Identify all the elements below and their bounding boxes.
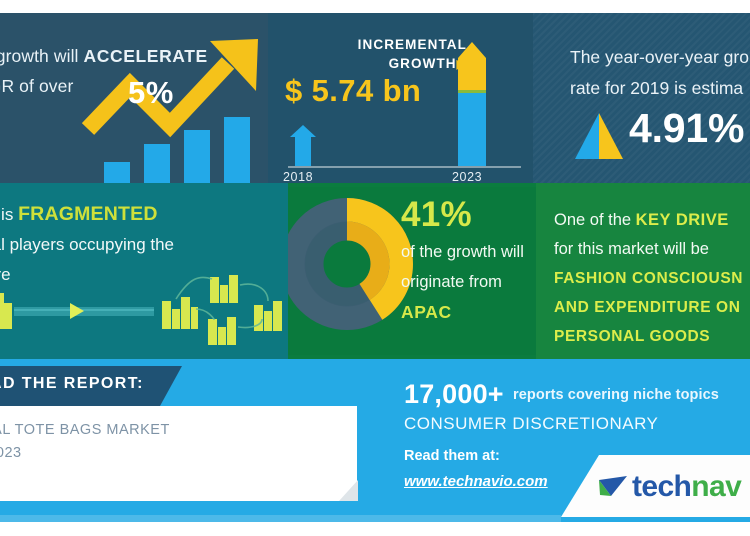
key-driver-caps-line1: FASHION CONSCIOUSN <box>554 270 743 287</box>
bar-2018 <box>290 125 316 166</box>
technavio-url-link[interactable]: www.technavio.com <box>404 473 548 490</box>
key-driver-details: FASHION CONSCIOUSN AND EXPENDITURE ON PE… <box>554 264 750 351</box>
market-fragmentation-illustration <box>0 275 288 359</box>
apac-text-line2: originate from <box>401 273 502 291</box>
apac-statement: of the growth will originate from APAC <box>401 237 536 328</box>
bar-1 <box>104 162 130 183</box>
buildings-cluster-3-icon <box>208 317 236 345</box>
buildings-cluster-1-icon <box>162 297 198 329</box>
panel-apac-share: 41% of the growth will originate from AP… <box>288 183 536 359</box>
key-driver-statement: One of the KEY DRIVE for this market wil… <box>554 206 750 264</box>
technavio-arrow-icon <box>597 474 629 500</box>
footer-white-strip <box>0 522 750 536</box>
transition-arrow-icon <box>14 303 154 319</box>
report-title-line2: -2023 <box>0 445 22 461</box>
panel-market-acceleration: et growth will ACCELERATE AGR of over 5% <box>0 13 268 183</box>
sector-label: CONSUMER DISCRETIONARY <box>404 414 658 434</box>
reports-count: 17,000+ <box>404 379 504 410</box>
yoy-value: 4.91% <box>629 105 744 152</box>
technavio-logo[interactable]: technav <box>597 469 741 505</box>
tick-label-2018: 2018 <box>283 170 313 183</box>
panel-yoy-growth: The year-over-year gro rate for 2019 is … <box>533 13 750 183</box>
acceleration-text-plain: et growth will <box>0 46 84 66</box>
buildings-cluster-2-icon <box>210 275 238 303</box>
panel-fragmented-market: rket is FRAGMENTED veral players occupyi… <box>0 183 288 359</box>
bar-2023 <box>458 42 486 166</box>
incremental-growth-label: INCREMENTAL GROWTH▶ <box>285 35 467 74</box>
logo-text-tech: tech <box>632 470 691 503</box>
technavio-wordmark: technav <box>632 470 741 504</box>
growth-arrow-icon <box>82 33 268 159</box>
infographic-canvas: et growth will ACCELERATE AGR of over 5%… <box>0 0 750 536</box>
tick-label-2023: 2023 <box>452 170 482 183</box>
incremental-label-line2: GROWTH <box>389 56 457 71</box>
fragmented-text-strong: FRAGMENTED <box>18 203 158 225</box>
triangle-up-icon <box>575 113 623 159</box>
yoy-statement: The year-over-year gro rate for 2019 is … <box>570 42 750 104</box>
apac-inner-surface: 41% of the growth will originate from AP… <box>288 187 536 355</box>
cagr-value: 5% <box>128 75 174 111</box>
key-driver-emphasis: KEY DRIVE <box>636 211 729 229</box>
apac-percentage: 41% <box>401 195 472 235</box>
panel-incremental-growth: INCREMENTAL GROWTH▶ $ 5.74 bn 2018 2023 <box>268 13 533 183</box>
fragmented-text-plain: rket is <box>0 205 18 224</box>
apac-text-line1: of the growth will <box>401 243 524 261</box>
key-driver-caps-line2: AND EXPENDITURE ON <box>554 299 740 316</box>
report-title: BAL TOTE BAGS MARKET -2023 <box>0 419 242 465</box>
key-driver-text-plain: One of the <box>554 211 636 229</box>
buildings-source-icon <box>0 293 12 329</box>
apac-region-label: APAC <box>401 302 452 322</box>
yoy-text-line2: rate for 2019 is estima <box>570 78 743 98</box>
apac-donut-chart <box>288 197 414 331</box>
report-title-line1: BAL TOTE BAGS MARKET <box>0 422 170 438</box>
reports-count-caption: reports covering niche topics <box>513 387 719 403</box>
key-driver-text-line2: for this market will be <box>554 240 709 258</box>
fragmented-text-line2: veral players occupying the <box>0 235 174 254</box>
key-driver-caps-line3: PERSONAL GOODS <box>554 328 710 345</box>
row-top: et growth will ACCELERATE AGR of over 5%… <box>0 0 750 183</box>
incremental-label-line1: INCREMENTAL <box>358 37 467 52</box>
buildings-cluster-4-icon <box>254 301 282 331</box>
logo-text-nav: nav <box>691 470 741 503</box>
incremental-axis-line <box>288 166 521 168</box>
panel-footer: AD THE REPORT: BAL TOTE BAGS MARKET -202… <box>0 359 750 536</box>
panel-key-driver: One of the KEY DRIVE for this market wil… <box>536 183 750 359</box>
acceleration-text-line2: AGR of over <box>0 76 73 96</box>
yoy-text-line1: The year-over-year gro <box>570 47 749 67</box>
download-report-label: AD THE REPORT: <box>0 375 170 393</box>
incremental-growth-value: $ 5.74 bn <box>285 73 421 109</box>
read-them-at-label: Read them at: <box>404 448 500 464</box>
